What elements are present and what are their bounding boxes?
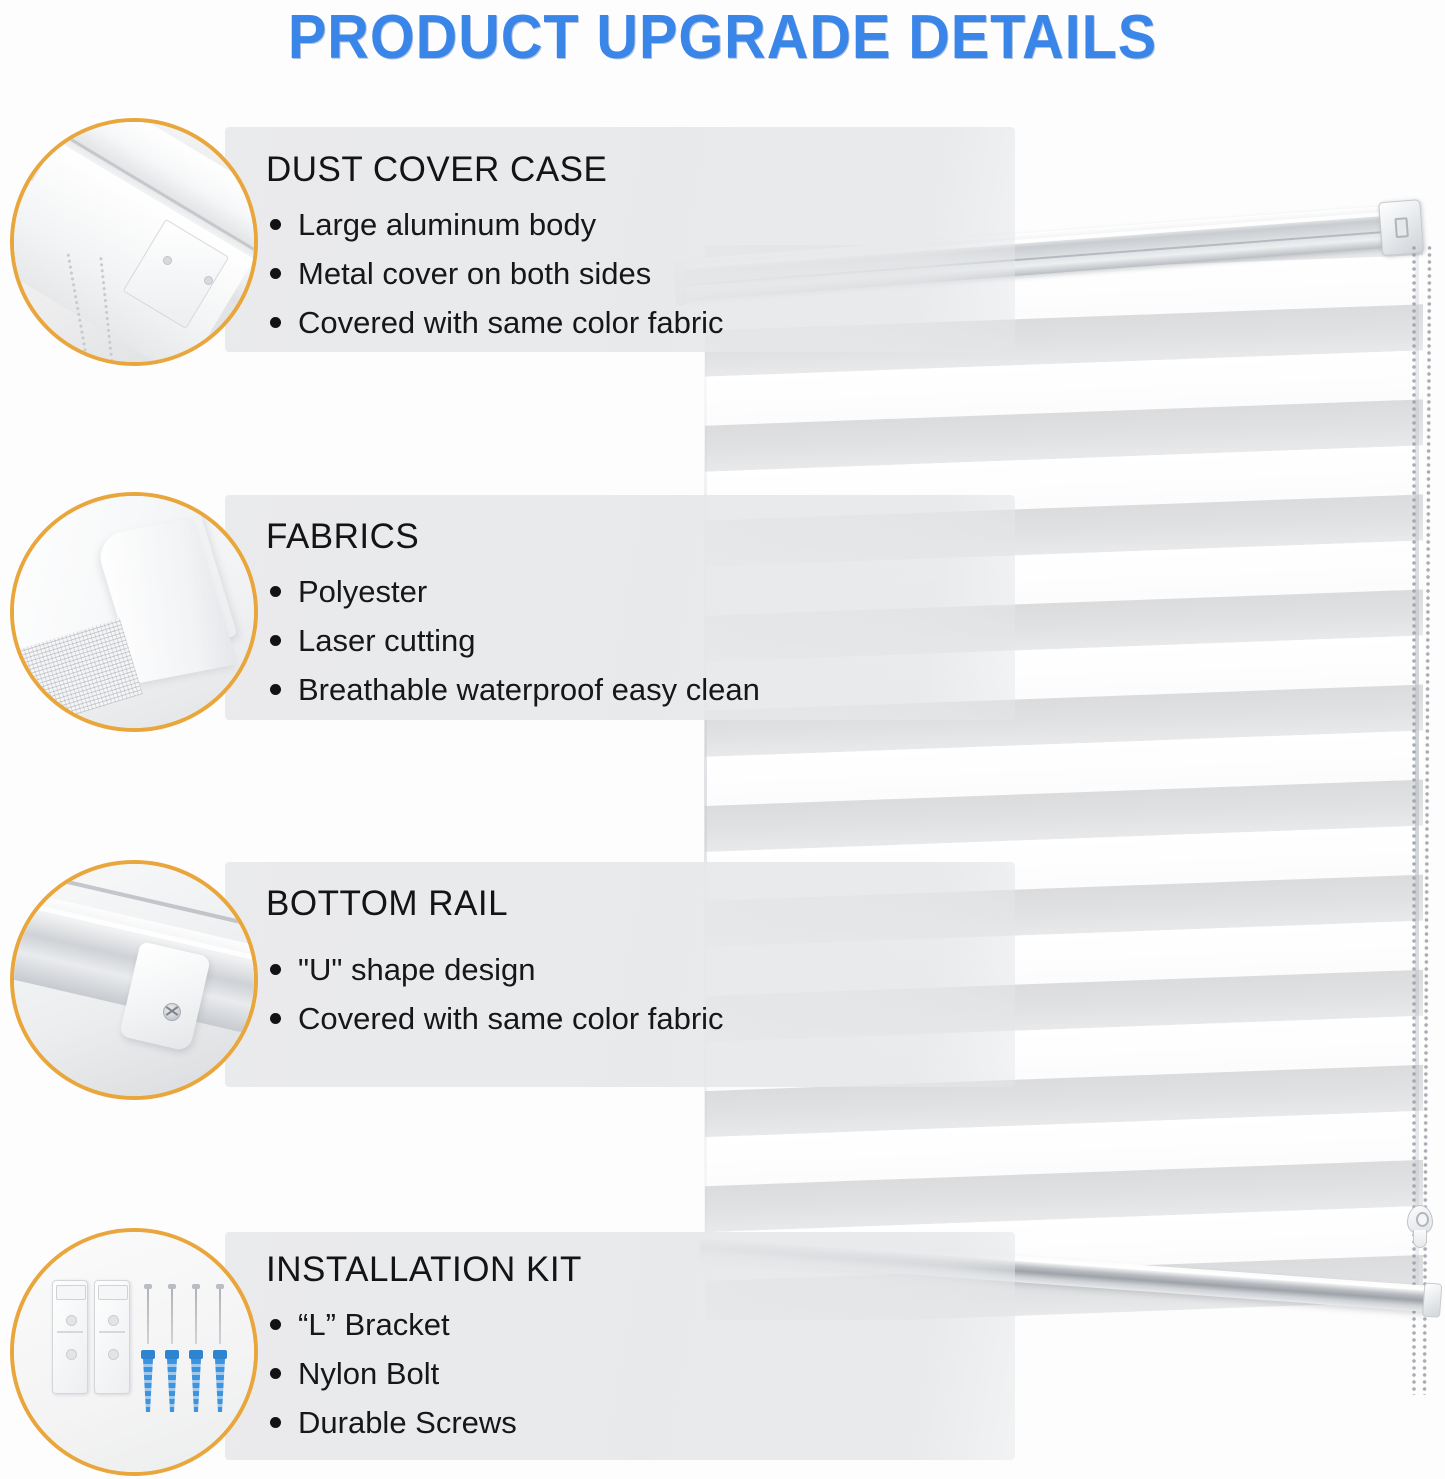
l-bracket-icon <box>52 1280 88 1394</box>
wall-anchor-icon <box>213 1350 227 1412</box>
feature-heading: INSTALLATION KIT <box>266 1250 582 1290</box>
feature-bullets: “L” Bracket Nylon Bolt Durable Screws <box>266 1300 517 1447</box>
bullet-item: Nylon Bolt <box>266 1349 517 1398</box>
bullet-text: Nylon Bolt <box>298 1356 439 1391</box>
feature-bullets: "U" shape design Covered with same color… <box>266 945 724 1043</box>
bullet-text: Covered with same color fabric <box>298 305 724 340</box>
bullet-item: Covered with same color fabric <box>266 994 724 1043</box>
thumbnail-dust-cover-case <box>10 118 258 366</box>
headrail-end-cap <box>1378 199 1424 256</box>
bullet-text: Metal cover on both sides <box>298 256 651 291</box>
screw-icon <box>216 1284 224 1344</box>
screw-icon <box>192 1284 200 1344</box>
bullet-text: Polyester <box>298 574 427 609</box>
infographic-canvas: PRODUCT UPGRADE DETAILS <box>0 0 1445 1479</box>
thumbnail-fabrics <box>10 492 258 732</box>
bullet-text: Breathable waterproof easy clean <box>298 672 760 707</box>
bullet-item: "U" shape design <box>266 945 724 994</box>
wall-anchor-icon <box>189 1350 203 1412</box>
bullet-dot-icon <box>270 268 281 279</box>
screw-icon <box>168 1284 176 1344</box>
bullet-item: Breathable waterproof easy clean <box>266 665 760 714</box>
chain-tensioner <box>1405 1205 1433 1247</box>
bullet-item: Large aluminum body <box>266 200 724 249</box>
bullet-item: Metal cover on both sides <box>266 249 724 298</box>
thumbnail-bottom-rail <box>10 860 258 1100</box>
feature-heading: DUST COVER CASE <box>266 150 607 190</box>
fabric-left-edge <box>704 255 707 1320</box>
bullet-dot-icon <box>270 219 281 230</box>
bullet-dot-icon <box>270 635 281 646</box>
l-bracket-icon <box>94 1280 130 1394</box>
wall-anchor-icon <box>141 1350 155 1412</box>
bullet-item: “L” Bracket <box>266 1300 517 1349</box>
bullet-text: Large aluminum body <box>298 207 596 242</box>
bullet-dot-icon <box>270 1368 281 1379</box>
product-image-zebra-blind <box>660 185 1445 1365</box>
feature-heading: BOTTOM RAIL <box>266 884 508 924</box>
bullet-dot-icon <box>270 1319 281 1330</box>
bullet-dot-icon <box>270 684 281 695</box>
bullet-dot-icon <box>270 317 281 328</box>
bullet-item: Durable Screws <box>266 1398 517 1447</box>
thumbnail-installation-kit <box>10 1228 258 1476</box>
screw-icon <box>144 1284 152 1344</box>
wall-anchor-icon <box>165 1350 179 1412</box>
bullet-dot-icon <box>270 586 281 597</box>
bullet-text: Durable Screws <box>298 1405 517 1440</box>
bullet-item: Covered with same color fabric <box>266 298 724 347</box>
bullet-dot-icon <box>270 1417 281 1428</box>
bullet-text: “L” Bracket <box>298 1307 450 1342</box>
bullet-text: Covered with same color fabric <box>298 1001 724 1036</box>
feature-bullets: Polyester Laser cutting Breathable water… <box>266 567 760 714</box>
blind-fabric <box>705 245 1423 1320</box>
bullet-text: Laser cutting <box>298 623 476 658</box>
bullet-item: Laser cutting <box>266 616 760 665</box>
bullet-item: Polyester <box>266 567 760 616</box>
bullet-dot-icon <box>270 1013 281 1024</box>
bullet-dot-icon <box>270 964 281 975</box>
feature-bullets: Large aluminum body Metal cover on both … <box>266 200 724 347</box>
page-title: PRODUCT UPGRADE DETAILS <box>51 2 1395 73</box>
feature-heading: FABRICS <box>266 517 419 557</box>
bullet-text: "U" shape design <box>298 952 535 987</box>
